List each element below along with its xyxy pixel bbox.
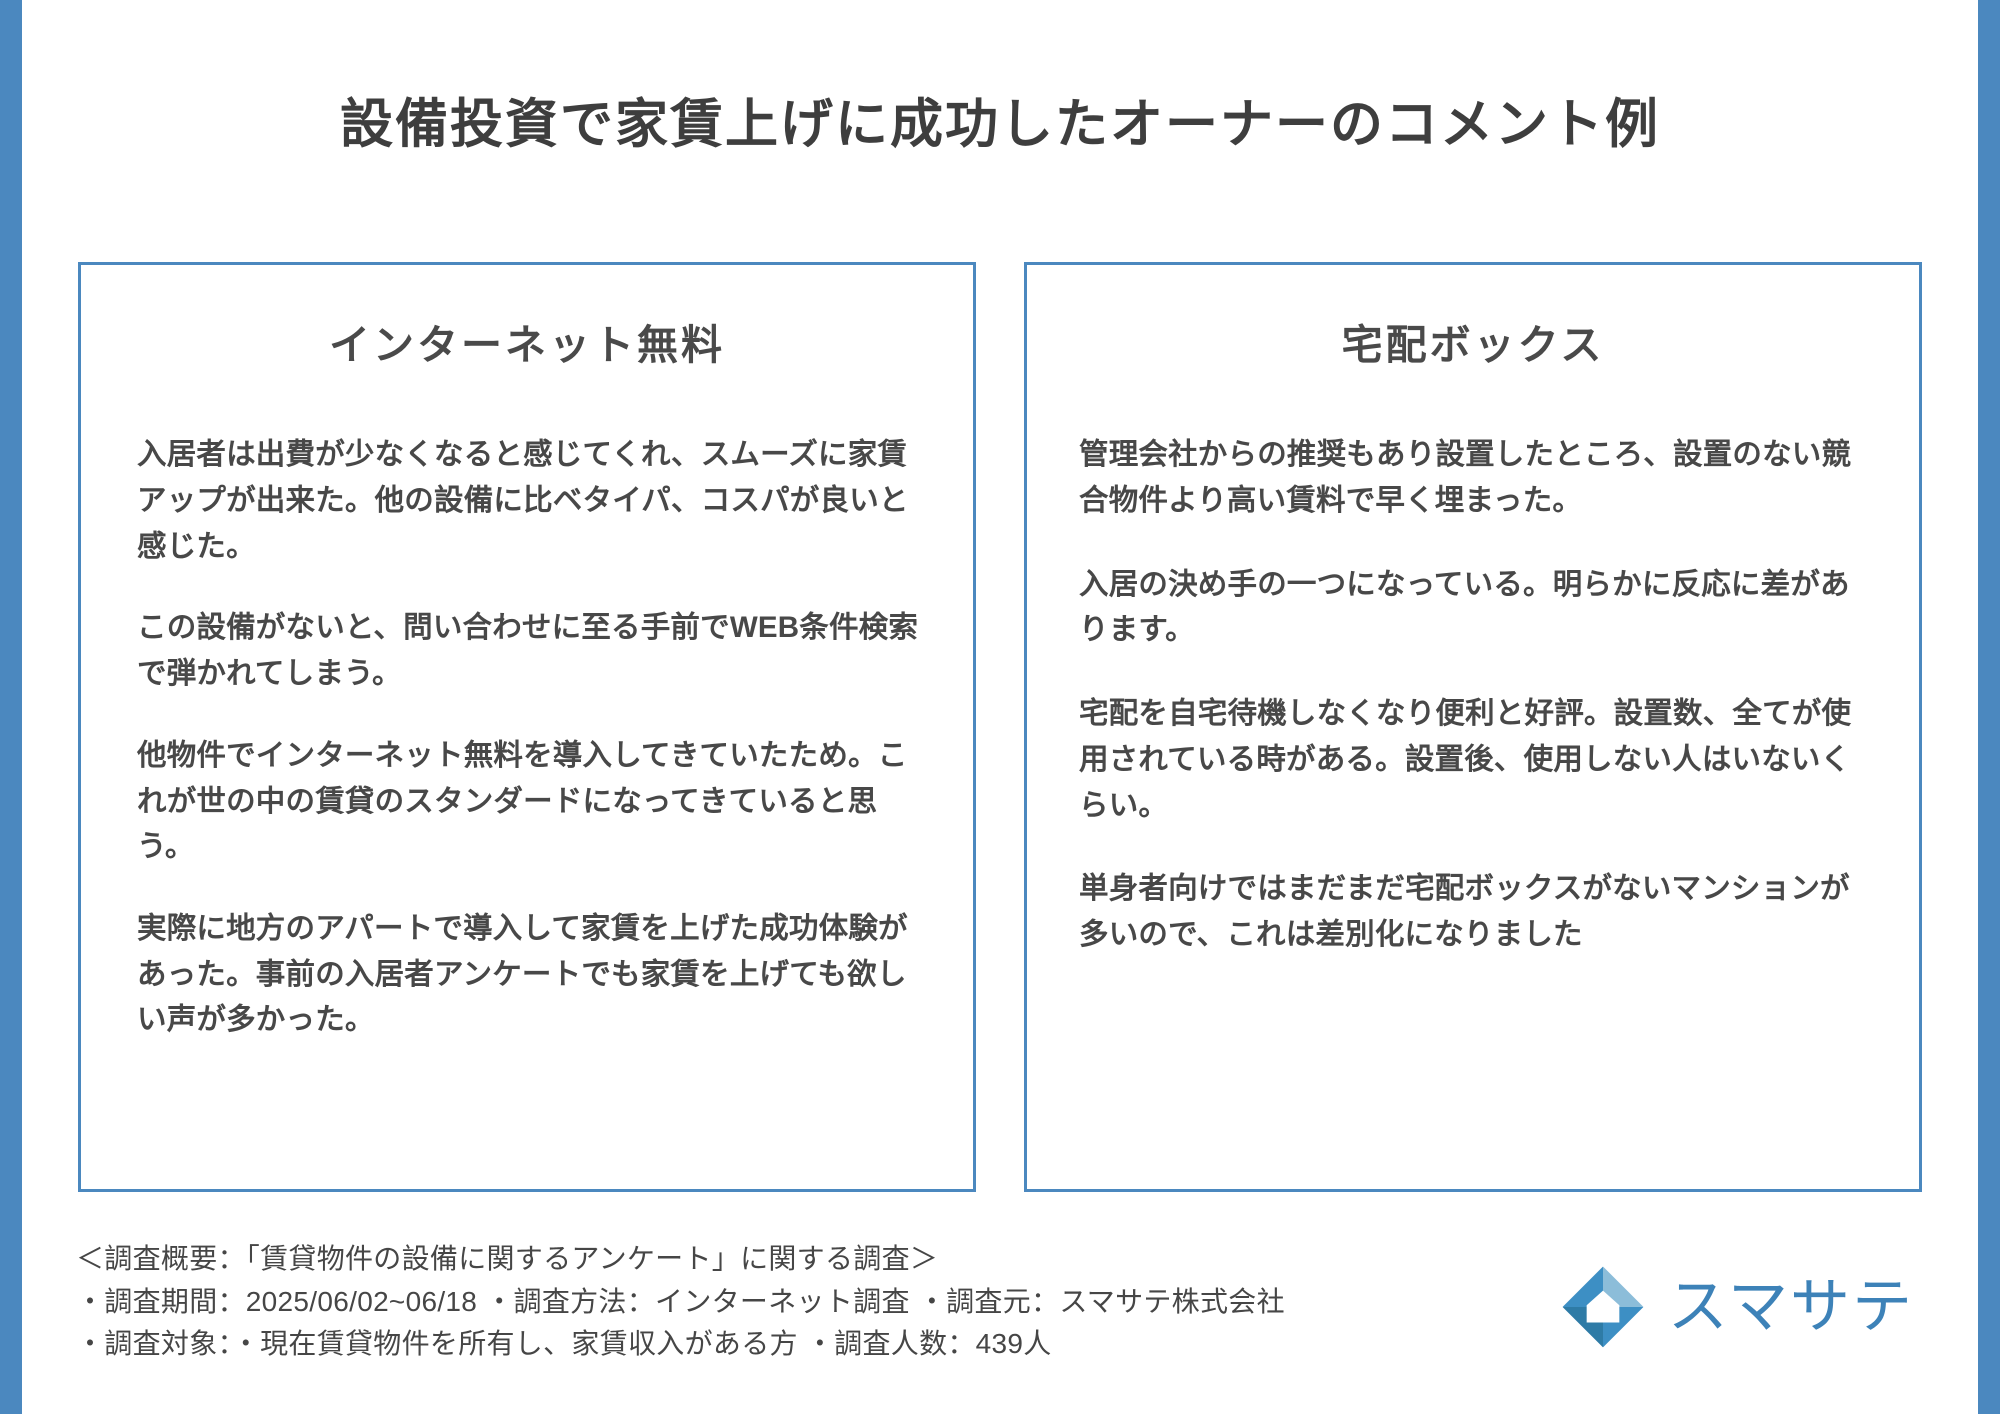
panel-delivery-box: 宅配ボックス 管理会社からの推奨もあり設置したところ、設置のない競合物件より高い… <box>1024 262 1922 1192</box>
footer-line-method: ・調査期間：2025/06/02~06/18 ・調査方法：インターネット調査 ・… <box>76 1281 1476 1324</box>
footer-line-target: ・調査対象：・現在賃貸物件を所有し、家賃収入がある方 ・調査人数：439人 <box>76 1323 1476 1366</box>
comment-item: 入居の決め手の一つになっている。明らかに反応に差があります。 <box>1079 562 1875 653</box>
panels-container: インターネット無料 入居者は出費が少なくなると感じてくれ、スムーズに家賃アップが… <box>78 262 1922 1192</box>
comment-item: 他物件でインターネット無料を導入してきていたため。これが世の中の賃貸のスタンダー… <box>137 733 921 870</box>
panel-body-delivery-box: 管理会社からの推奨もあり設置したところ、設置のない競合物件より高い賃料で早く埋ま… <box>1027 432 1919 957</box>
survey-overview-footer: ＜調査概要：「賃貸物件の設備に関するアンケート」に関する調査＞ ・調査期間：20… <box>76 1238 1476 1366</box>
comment-item: 入居者は出費が少なくなると感じてくれ、スムーズに家賃アップが出来た。他の設備に比… <box>137 432 921 569</box>
left-accent-bar <box>0 0 22 1414</box>
comment-item: 管理会社からの推奨もあり設置したところ、設置のない競合物件より高い賃料で早く埋ま… <box>1079 432 1875 523</box>
comment-item: 単身者向けではまだまだ宅配ボックスがないマンションが多いので、これは差別化になり… <box>1079 866 1875 957</box>
slide-root: 設備投資で家賃上げに成功したオーナーのコメント例 インターネット無料 入居者は出… <box>0 0 2000 1414</box>
smasate-diamond-house-icon <box>1560 1264 1646 1350</box>
panel-heading-delivery-box: 宅配ボックス <box>1027 321 1919 370</box>
brand-logo: スマサテ <box>1560 1264 1914 1350</box>
comment-item: 実際に地方のアパートで導入して家賃を上げた成功体験があった。事前の入居者アンケー… <box>137 906 921 1043</box>
footer-line-overview: ＜調査概要：「賃貸物件の設備に関するアンケート」に関する調査＞ <box>76 1238 1476 1281</box>
panel-internet-free: インターネット無料 入居者は出費が少なくなると感じてくれ、スムーズに家賃アップが… <box>78 262 976 1192</box>
comment-item: この設備がないと、問い合わせに至る手前でWEB条件検索で弾かれてしまう。 <box>137 605 921 696</box>
comment-item: 宅配を自宅待機しなくなり便利と好評。設置数、全てが使用されている時がある。設置後… <box>1079 691 1875 828</box>
page-title: 設備投資で家賃上げに成功したオーナーのコメント例 <box>22 96 1978 154</box>
brand-logo-text: スマサテ <box>1668 1277 1914 1337</box>
panel-heading-internet-free: インターネット無料 <box>81 321 973 370</box>
panel-body-internet-free: 入居者は出費が少なくなると感じてくれ、スムーズに家賃アップが出来た。他の設備に比… <box>81 432 973 1043</box>
right-accent-bar <box>1978 0 2000 1414</box>
